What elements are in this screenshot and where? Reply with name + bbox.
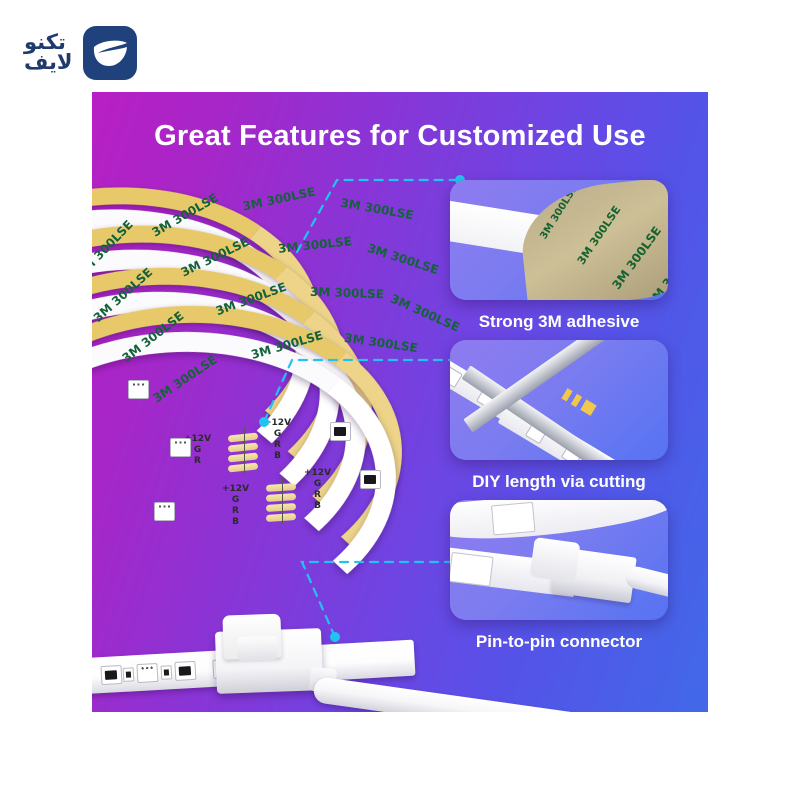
led-chip <box>450 365 463 387</box>
pad-label-b: B <box>264 451 291 462</box>
cut-line <box>282 478 283 524</box>
strip-connector <box>215 628 323 694</box>
liner-print: 3M 300LSE <box>575 204 624 268</box>
feature-label-adhesive: Strong 3M adhesive <box>450 312 668 332</box>
pad-label-group: +12V G R B <box>304 468 331 512</box>
led-chip <box>360 470 381 489</box>
feature-card-connector[interactable] <box>450 500 668 620</box>
pad-label-group: +12V G R B <box>264 418 291 462</box>
pad-label-12v: +12V <box>304 468 331 479</box>
pad-label-12v: +12V <box>222 484 249 495</box>
led-chip <box>174 661 196 681</box>
connector-clip <box>222 614 282 660</box>
connector-pad <box>450 552 494 587</box>
adhesive-print: 3M 300LSE <box>343 331 418 355</box>
led-chip <box>136 663 158 683</box>
liner-print: 3M 300LSE <box>609 224 664 292</box>
resistor <box>161 665 173 680</box>
led-chip <box>100 665 122 685</box>
led-chip <box>330 422 351 441</box>
brand-mark-icon <box>83 26 137 80</box>
pad-label-g: G <box>264 429 291 440</box>
pad-label-r: R <box>222 506 249 517</box>
resistor <box>123 667 135 682</box>
led-chip <box>154 502 175 521</box>
led-strip-segment <box>450 500 668 545</box>
adhesive-print: 3M 300LSE <box>366 241 441 277</box>
adhesive-print: 3M 300LSE <box>339 196 414 223</box>
pad-label-r: R <box>304 490 331 501</box>
pad-label-g: G <box>304 479 331 490</box>
cut-solder-pads <box>561 388 596 416</box>
brand-name-line2: لایف <box>24 53 73 73</box>
cut-line <box>244 428 245 474</box>
feature-card-cutting[interactable] <box>450 340 668 460</box>
feature-banner: Great Features for Customized Use 3M 300… <box>92 92 708 712</box>
pad-label-r: R <box>184 456 211 467</box>
led-chip <box>128 380 149 399</box>
brand-wordmark: تکنو لایف <box>24 33 73 73</box>
connector-clip <box>529 537 580 583</box>
brand-logo: تکنو لایف <box>24 26 137 80</box>
pad-label-g: G <box>222 495 249 506</box>
connector-pad <box>491 502 535 536</box>
feature-card-adhesive[interactable]: 3M 300LSE 3M 300LSE 3M 300LSE 3M 300LSE <box>450 180 668 300</box>
led-chip <box>170 438 191 457</box>
liner-print: 3M 300LSE <box>538 183 580 241</box>
pad-label-r: R <box>264 440 291 451</box>
pad-label-b: B <box>304 501 331 512</box>
adhesive-liner: 3M 300LSE 3M 300LSE 3M 300LSE 3M 300LSE <box>516 180 668 300</box>
feature-label-connector: Pin-to-pin connector <box>450 632 668 652</box>
feature-label-cutting: DIY length via cutting <box>450 472 668 492</box>
adhesive-print: 3M 300LSE <box>241 184 316 213</box>
pad-label-b: B <box>222 517 249 528</box>
connector-tab <box>237 636 278 661</box>
pad-label-12v: +12V <box>264 418 291 429</box>
pad-label-group: +12V G R B <box>222 484 249 528</box>
power-cable <box>312 676 613 712</box>
